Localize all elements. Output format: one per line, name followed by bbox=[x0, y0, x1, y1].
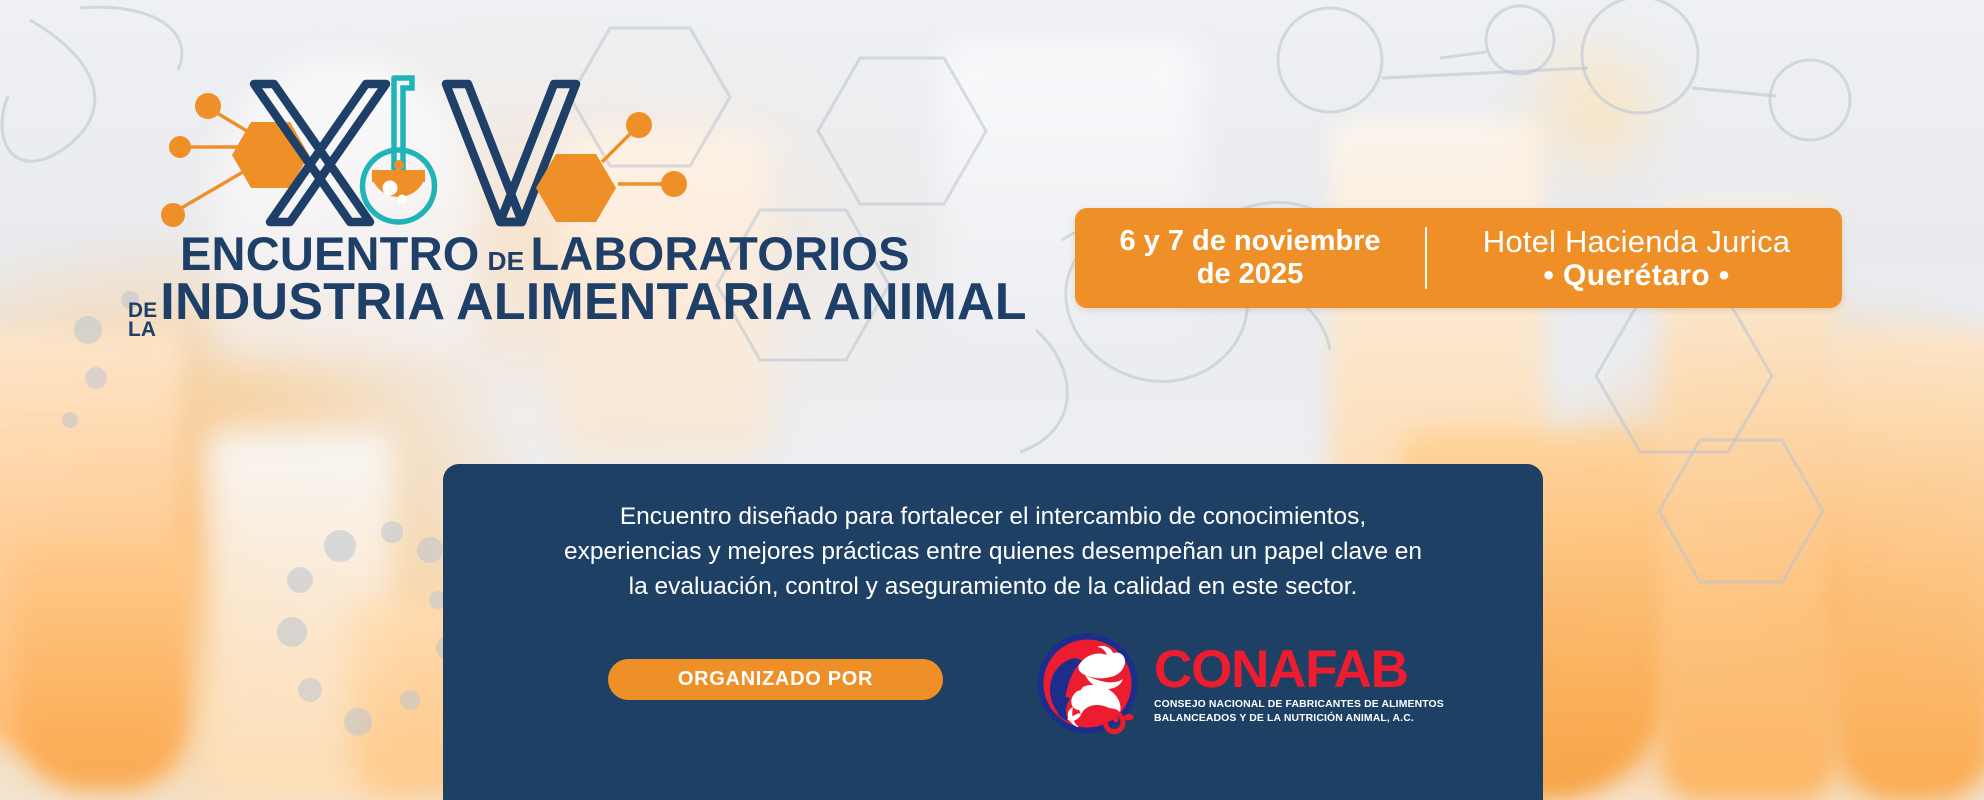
xiv-roman-numeral-mark bbox=[150, 62, 690, 237]
sponsor-tagline-line-2: BALANCEADOS Y DE LA NUTRICIÓN ANIMAL, A.… bbox=[1154, 712, 1444, 725]
description-line-2: experiencias y mejores prácticas entre q… bbox=[477, 534, 1509, 569]
title-de: DE bbox=[487, 246, 524, 276]
title-de-la-stack: DELA bbox=[128, 301, 157, 339]
sponsor-tagline: CONSEJO NACIONAL DE FABRICANTES DE ALIME… bbox=[1154, 698, 1444, 725]
sponsor-logo-conafab[interactable]: CONAFAB CONSEJO NACIONAL DE FABRICANTES … bbox=[1035, 629, 1460, 737]
description-line-1: Encuentro diseñado para fortalecer el in… bbox=[477, 499, 1509, 534]
organized-by-button[interactable]: ORGANIZADO POR bbox=[608, 659, 943, 700]
hexagon-molecule-icon-left bbox=[161, 93, 309, 227]
event-banner: ENCUENTRODELABORATORIOS DELAINDUSTRIA AL… bbox=[0, 0, 1984, 800]
event-date-line-1: 6 y 7 de noviembre bbox=[1075, 225, 1425, 258]
title-la-small: LA bbox=[128, 320, 157, 339]
title-industria-alimentaria-animal: INDUSTRIA ALIMENTARIA ANIMAL bbox=[160, 273, 1026, 331]
description-line-3: la evaluación, control y aseguramiento d… bbox=[477, 569, 1509, 604]
description-panel: Encuentro diseñado para fortalecer el in… bbox=[443, 464, 1543, 800]
event-date-line-2: de 2025 bbox=[1075, 258, 1425, 291]
event-title-line-2: DELAINDUSTRIA ALIMENTARIA ANIMAL bbox=[128, 276, 1027, 341]
event-logo-lockup: ENCUENTRODELABORATORIOS DELAINDUSTRIA AL… bbox=[150, 62, 790, 322]
sponsor-wordmark: CONAFAB CONSEJO NACIONAL DE FABRICANTES … bbox=[1154, 641, 1444, 725]
date-venue-bar: 6 y 7 de noviembre de 2025 Hotel Haciend… bbox=[1075, 208, 1842, 308]
sponsor-tagline-line-1: CONSEJO NACIONAL DE FABRICANTES DE ALIME… bbox=[1154, 698, 1444, 711]
venue-city: • Querétaro • bbox=[1431, 259, 1842, 293]
event-title-line-1: ENCUENTRODELABORATORIOS bbox=[180, 230, 910, 277]
venue-name: Hotel Hacienda Jurica bbox=[1431, 224, 1842, 259]
conafab-animals-emblem-icon bbox=[1035, 631, 1140, 736]
vertical-divider bbox=[1425, 227, 1427, 289]
event-date: 6 y 7 de noviembre de 2025 bbox=[1075, 225, 1425, 291]
event-description: Encuentro diseñado para fortalecer el in… bbox=[443, 499, 1543, 604]
sponsor-name: CONAFAB bbox=[1154, 645, 1444, 695]
event-venue: Hotel Hacienda Jurica • Querétaro • bbox=[1427, 224, 1842, 293]
